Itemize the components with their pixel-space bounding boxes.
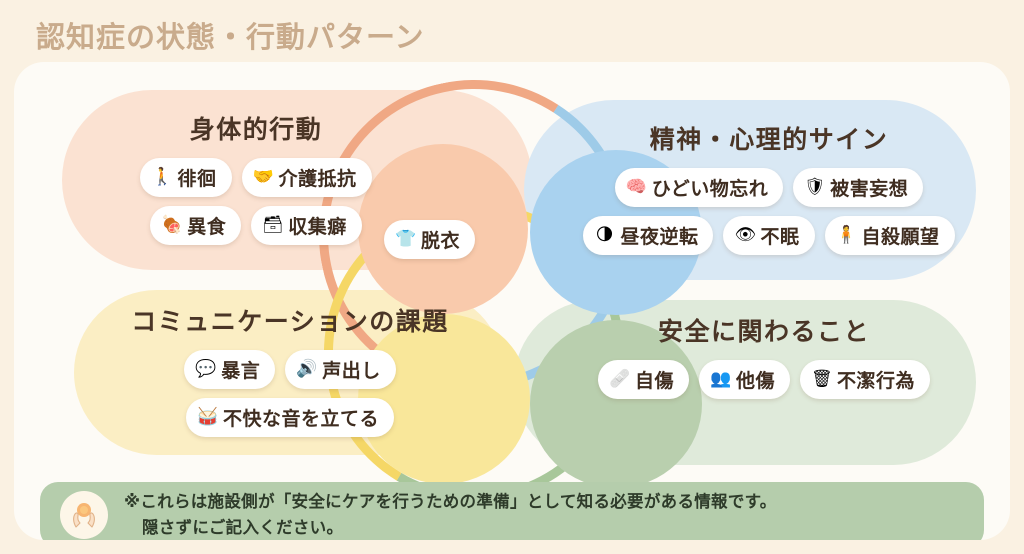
tag-tashou[interactable]: 👥 他傷	[699, 360, 790, 399]
tag-row: 💬 暴言 🔊 声出し	[184, 350, 396, 389]
tag-fukaina-oto[interactable]: 🥁 不快な音を立てる	[186, 398, 394, 437]
person-sad-icon: 🧍	[836, 227, 856, 244]
footer-text: ※これらは施設側が「安全にケアを行うための準備」として知る必要がある情報です。 …	[124, 489, 777, 540]
quadrant-communication: コミュニケーションの課題 💬 暴言 🔊 声出し 🥁 不快な音を立てる	[80, 302, 500, 437]
two-people-resisting-icon: 🤝	[253, 169, 273, 186]
open-eye-icon: 👁	[734, 227, 754, 244]
tag-list-safety: 🩹 自傷 👥 他傷 🗑 不潔行為	[598, 360, 930, 399]
tag-list-physical: 🚶 徘徊 🤝 介護抵抗 🍖 異食 🗃 収集癖	[140, 158, 371, 245]
diagram-card: 身体的行動 🚶 徘徊 🤝 介護抵抗 🍖 異食	[14, 62, 1010, 540]
tag-ishoku[interactable]: 🍖 異食	[150, 206, 241, 245]
tag-label: 不眠	[760, 222, 799, 249]
tag-label: 暴言	[221, 356, 260, 383]
tag-row: 🧠 ひどい物忘れ 🛡 被害妄想	[615, 168, 923, 207]
tag-list-mental: 🧠 ひどい物忘れ 🛡 被害妄想 🌗 昼夜逆転 👁 不眠	[583, 168, 954, 255]
tag-label: 他傷	[736, 366, 775, 393]
trash-bin-icon: 🗑	[811, 371, 831, 388]
tshirt-icon: 👕	[395, 231, 415, 248]
angry-speech-bubble-icon: 💬	[195, 361, 215, 378]
tag-row: 🥁 不快な音を立てる	[186, 398, 394, 437]
tag-shushuuheki[interactable]: 🗃 収集癖	[251, 206, 362, 245]
tag-higai-mousou[interactable]: 🛡 被害妄想	[793, 168, 923, 207]
tag-label: 脱衣	[421, 226, 460, 253]
tag-label: 自傷	[635, 366, 674, 393]
tag-koedashi[interactable]: 🔊 声出し	[285, 350, 396, 389]
tag-label: 不潔行為	[837, 366, 915, 393]
tag-row: 🚶 徘徊 🤝 介護抵抗	[140, 158, 371, 197]
stacked-boxes-icon: 🗃	[262, 217, 282, 234]
footer-line-2: 隠さずにご記入ください。	[124, 515, 777, 540]
tag-label: 自殺願望	[862, 222, 940, 249]
tag-list-communication: 💬 暴言 🔊 声出し 🥁 不快な音を立てる	[184, 350, 396, 437]
tag-datsui[interactable]: 👕 脱衣	[384, 220, 475, 259]
person-shield-icon: 🛡	[804, 179, 824, 196]
tag-label: 昼夜逆転	[620, 222, 698, 249]
tag-jishou[interactable]: 🩹 自傷	[598, 360, 689, 399]
tag-row: 🩹 自傷 👥 他傷 🗑 不潔行為	[598, 360, 930, 399]
drum-icon: 🥁	[197, 409, 217, 426]
quadrant-safety: 安全に関わること 🩹 自傷 👥 他傷 🗑 不潔行為	[554, 312, 974, 399]
tag-label: 声出し	[322, 356, 381, 383]
footer-note: ※これらは施設側が「安全にケアを行うための準備」として知る必要がある情報です。 …	[40, 482, 984, 540]
tag-label: 被害妄想	[830, 174, 908, 201]
tag-label: 不快な音を立てる	[223, 404, 379, 431]
tag-chuya-gyakuten[interactable]: 🌗 昼夜逆転	[583, 216, 713, 255]
quadrant-title-communication: コミュニケーションの課題	[131, 302, 449, 338]
tag-haikai[interactable]: 🚶 徘徊	[140, 158, 231, 197]
caring-hands-icon	[60, 491, 108, 539]
quadrant-title-safety: 安全に関わること	[658, 312, 870, 348]
walking-person-icon: 🚶	[151, 169, 171, 186]
page-title: 認知症の状態・行動パターン	[36, 14, 425, 56]
tag-row: 🌗 昼夜逆転 👁 不眠 🧍 自殺願望	[583, 216, 954, 255]
tag-fumin[interactable]: 👁 不眠	[723, 216, 814, 255]
tag-hidoi-monowasure[interactable]: 🧠 ひどい物忘れ	[615, 168, 783, 207]
tag-bougen[interactable]: 💬 暴言	[184, 350, 275, 389]
tag-label: 介護抵抗	[279, 164, 357, 191]
quadrant-title-mental: 精神・心理的サイン	[650, 120, 889, 156]
tag-fuketsu-koui[interactable]: 🗑 不潔行為	[800, 360, 930, 399]
page-root: 認知症の状態・行動パターン 身体的行動 🚶 徘徊	[0, 0, 1024, 554]
tag-jisatsu-ganbou[interactable]: 🧍 自殺願望	[825, 216, 955, 255]
magnifier-food-icon: 🍖	[161, 217, 181, 234]
quadrant-mental: 精神・心理的サイン 🧠 ひどい物忘れ 🛡 被害妄想 🌗 昼夜逆転	[554, 120, 984, 255]
bandaged-arm-icon: 🩹	[609, 371, 629, 388]
tag-kaigo-teikou[interactable]: 🤝 介護抵抗	[242, 158, 372, 197]
sun-moon-icon: 🌗	[594, 227, 614, 244]
quadrant-title-physical: 身体的行動	[190, 110, 323, 146]
tag-row: 🍖 異食 🗃 収集癖	[150, 206, 362, 245]
quadrant-physical: 身体的行動 🚶 徘徊 🤝 介護抵抗 🍖 異食	[76, 110, 436, 245]
tag-label: 収集癖	[288, 212, 347, 239]
head-memory-icon: 🧠	[626, 179, 646, 196]
tag-label: 徘徊	[177, 164, 216, 191]
tag-label: 異食	[187, 212, 226, 239]
loudspeaker-icon: 🔊	[296, 361, 316, 378]
tag-label: ひどい物忘れ	[652, 174, 768, 201]
two-people-conflict-icon: 👥	[710, 371, 730, 388]
footer-line-1: ※これらは施設側が「安全にケアを行うための準備」として知る必要がある情報です。	[124, 489, 777, 515]
